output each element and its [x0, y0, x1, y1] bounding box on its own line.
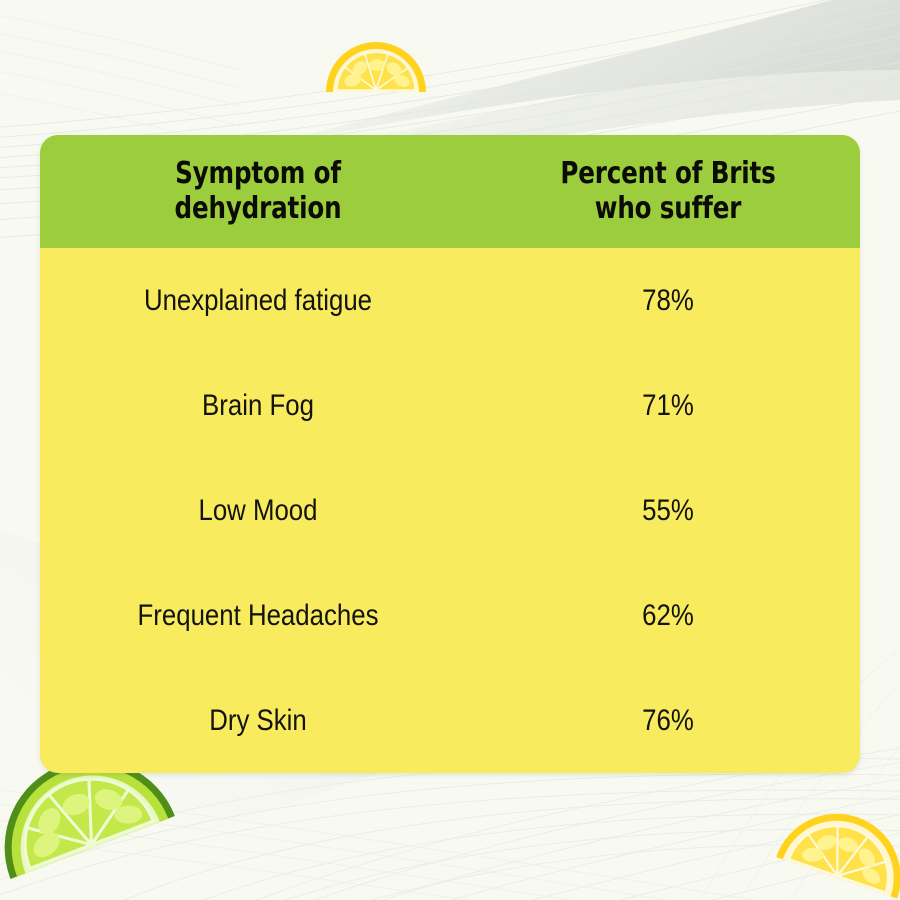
table-body: Unexplained fatigue 78% Brain Fog 71% Lo…	[40, 248, 860, 773]
cell-percent: 55%	[503, 494, 833, 527]
cell-symptom: Unexplained fatigue	[71, 284, 446, 317]
symptoms-table: Symptom of dehydration Percent of Brits …	[40, 135, 860, 773]
cell-percent: 78%	[503, 284, 833, 317]
header-symptom-line-2: dehydration	[175, 192, 342, 227]
table-row: Low Mood 55%	[40, 458, 860, 563]
header-percent-line-2: who suffer	[560, 192, 775, 227]
table-row: Unexplained fatigue 78%	[40, 248, 860, 353]
cell-percent: 62%	[503, 599, 833, 632]
cell-percent: 76%	[503, 704, 833, 737]
table-row: Dry Skin 76%	[40, 668, 860, 773]
table-row: Brain Fog 71%	[40, 353, 860, 458]
cell-symptom: Dry Skin	[71, 704, 446, 737]
poster-canvas: Symptom of dehydration Percent of Brits …	[0, 0, 900, 900]
cell-symptom: Low Mood	[71, 494, 446, 527]
cell-symptom: Brain Fog	[71, 389, 446, 422]
cell-percent: 71%	[503, 389, 833, 422]
table-row: Frequent Headaches 62%	[40, 563, 860, 668]
table-header-cell-percent: Percent of Brits who suffer	[511, 135, 826, 248]
header-percent-line-1: Percent of Brits	[560, 157, 775, 192]
header-symptom-line-1: Symptom of	[175, 157, 342, 192]
cell-symptom: Frequent Headaches	[71, 599, 446, 632]
table-header-cell-symptom: Symptom of dehydration	[79, 135, 437, 248]
table-header-row: Symptom of dehydration Percent of Brits …	[40, 135, 860, 248]
lemon-slice-bottom-right-icon	[768, 796, 900, 900]
lemon-slice-top-icon	[322, 20, 430, 100]
